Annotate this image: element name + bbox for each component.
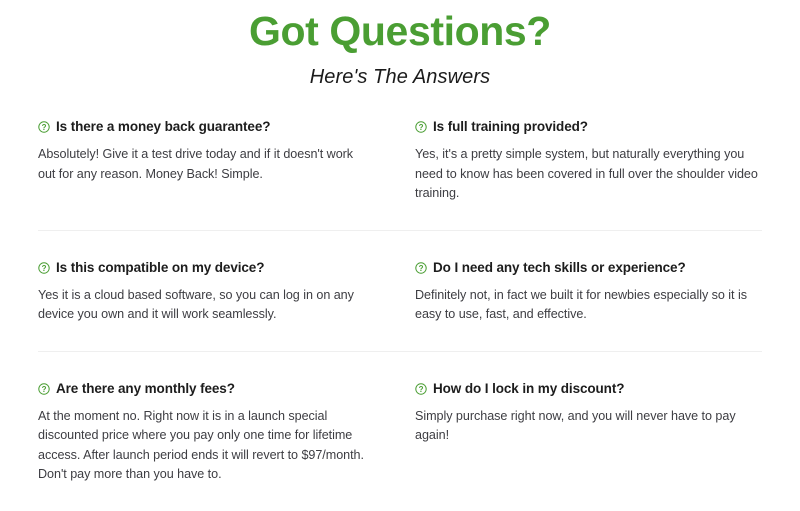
faq-question: ? Is there a money back guarantee? (38, 118, 368, 136)
question-circle-icon: ? (415, 383, 427, 395)
faq-question: ? Is this compatible on my device? (38, 259, 368, 277)
question-circle-icon: ? (38, 383, 50, 395)
faq-question: ? Do I need any tech skills or experienc… (415, 259, 762, 277)
faq-answer: Definitely not, in fact we built it for … (415, 286, 762, 351)
faq-item[interactable]: ? Is this compatible on my device? Yes i… (38, 259, 400, 351)
faq-page: Got Questions? Here's The Answers ? Is t… (0, 0, 800, 499)
faq-row: ? Is this compatible on my device? Yes i… (38, 230, 762, 351)
svg-text:?: ? (419, 263, 424, 272)
faq-list: ? Is there a money back guarantee? Absol… (38, 89, 762, 511)
faq-question: ? How do I lock in my discount? (415, 380, 762, 398)
faq-question-text: Is this compatible on my device? (56, 259, 264, 277)
faq-question-text: Is full training provided? (433, 118, 588, 136)
faq-question-text: Are there any monthly fees? (56, 380, 235, 398)
page-title: Got Questions? (0, 8, 800, 54)
faq-question: ? Is full training provided? (415, 118, 762, 136)
question-circle-icon: ? (415, 121, 427, 133)
faq-answer: Yes it is a cloud based software, so you… (38, 286, 368, 351)
svg-text:?: ? (42, 384, 47, 393)
svg-text:?: ? (42, 123, 47, 132)
faq-item[interactable]: ? Are there any monthly fees? At the mom… (38, 380, 400, 511)
question-circle-icon: ? (38, 121, 50, 133)
question-circle-icon: ? (38, 262, 50, 274)
faq-item[interactable]: ? How do I lock in my discount? Simply p… (400, 380, 762, 472)
faq-question-text: Is there a money back guarantee? (56, 118, 270, 136)
faq-question: ? Are there any monthly fees? (38, 380, 368, 398)
faq-answer: At the moment no. Right now it is in a l… (38, 407, 368, 511)
faq-answer: Absolutely! Give it a test drive today a… (38, 145, 368, 210)
faq-item[interactable]: ? Do I need any tech skills or experienc… (400, 259, 762, 351)
faq-item[interactable]: ? Is full training provided? Yes, it's a… (400, 118, 762, 230)
faq-answer: Yes, it's a pretty simple system, but na… (415, 145, 762, 230)
page-subtitle: Here's The Answers (0, 65, 800, 89)
faq-header: Got Questions? Here's The Answers (0, 0, 800, 89)
svg-text:?: ? (42, 263, 47, 272)
faq-answer: Simply purchase right now, and you will … (415, 407, 762, 472)
faq-row: ? Is there a money back guarantee? Absol… (38, 89, 762, 230)
faq-item[interactable]: ? Is there a money back guarantee? Absol… (38, 118, 400, 210)
question-circle-icon: ? (415, 262, 427, 274)
faq-row: ? Are there any monthly fees? At the mom… (38, 351, 762, 511)
faq-question-text: Do I need any tech skills or experience? (433, 259, 686, 277)
svg-text:?: ? (419, 123, 424, 132)
svg-text:?: ? (419, 384, 424, 393)
faq-question-text: How do I lock in my discount? (433, 380, 624, 398)
